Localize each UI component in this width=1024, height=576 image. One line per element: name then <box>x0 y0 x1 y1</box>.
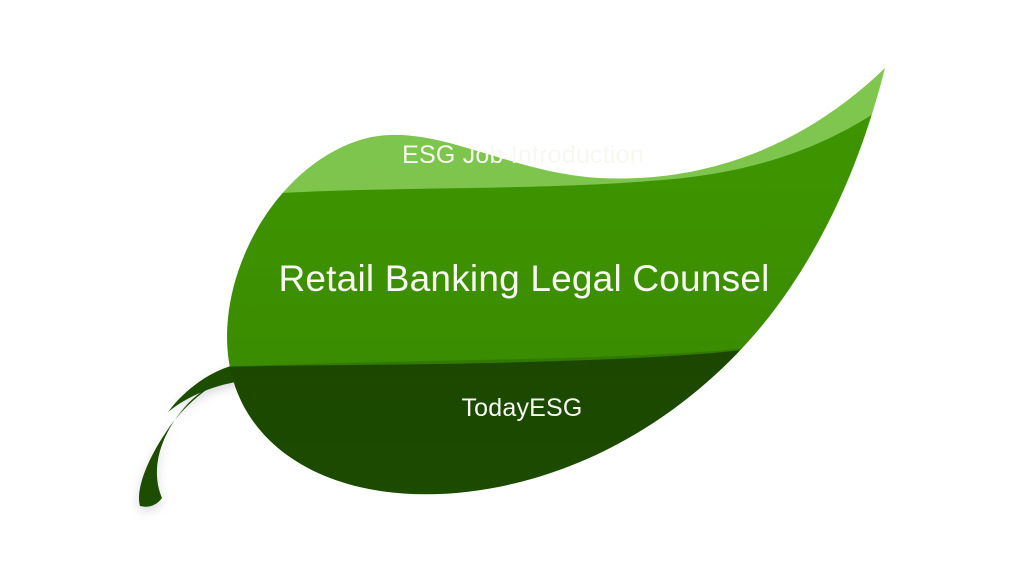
leaf-infographic-canvas: ESG Job Introduction Retail Banking Lega… <box>0 0 1024 576</box>
leaf-band-middle-fill <box>160 92 960 380</box>
leaf-graphic <box>0 0 1024 576</box>
